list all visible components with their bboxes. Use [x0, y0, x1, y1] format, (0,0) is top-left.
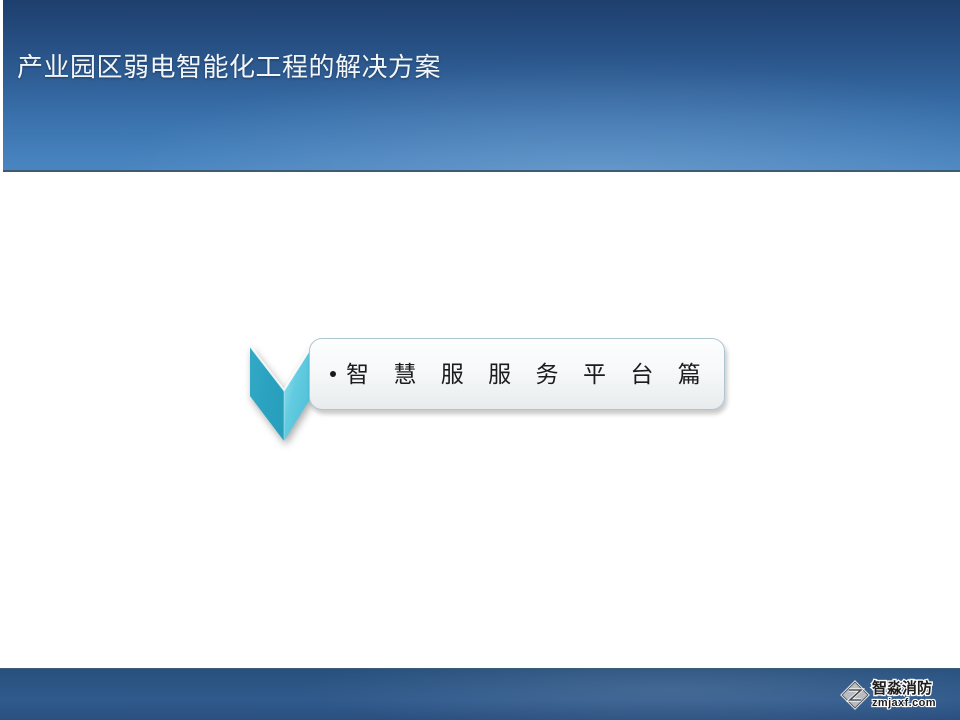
logo-text-group: 智淼消防 zmjaxf.com: [872, 681, 936, 709]
header-sheen-overlay: [3, 0, 960, 170]
slide-header-band: 产业园区弱电智能化工程的解决方案: [3, 0, 960, 172]
logo-name: 智淼消防: [872, 681, 936, 696]
callout-box[interactable]: 智 慧 服 服 务 平 台 篇: [309, 338, 725, 410]
callout-group: 智 慧 服 服 务 平 台 篇: [246, 332, 726, 442]
logo-url: zmjaxf.com: [872, 698, 936, 709]
footer-sheen-overlay: [0, 669, 960, 720]
slide-canvas: 产业园区弱电智能化工程的解决方案: [0, 0, 960, 720]
page-title: 产业园区弱电智能化工程的解决方案: [17, 50, 441, 84]
watermark-logo: 智淼消防 zmjaxf.com: [840, 676, 952, 714]
slide-footer-band: [0, 668, 960, 720]
bullet-icon: [330, 371, 336, 377]
callout-content: 智 慧 服 服 务 平 台 篇: [310, 359, 710, 389]
callout-text: 智 慧 服 服 务 平 台 篇: [346, 359, 710, 389]
diamond-logo-icon: [840, 680, 870, 710]
